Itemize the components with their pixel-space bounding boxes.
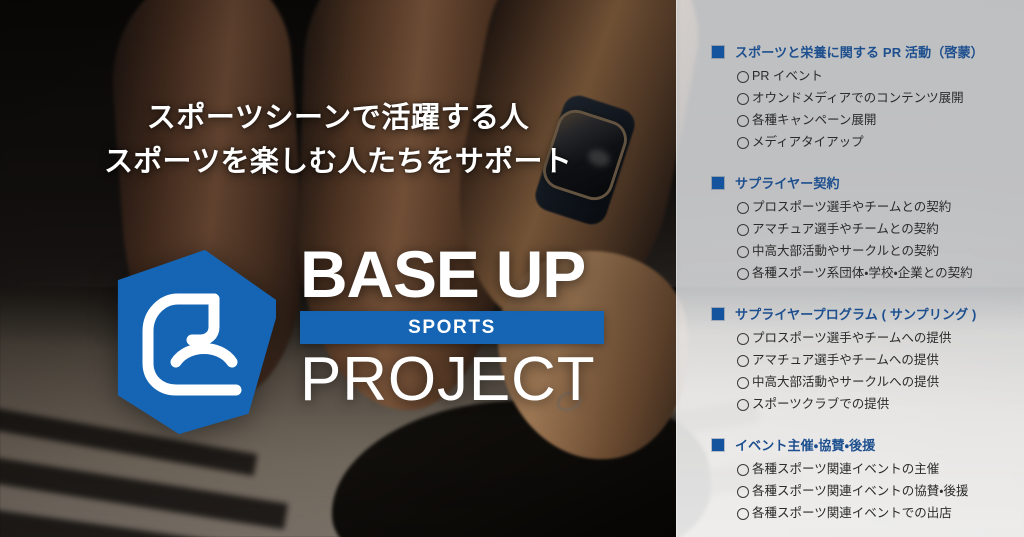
activity-group-header: スポーツと栄養に関する PR 活動（啓蒙）: [712, 42, 1012, 61]
activities-panel-content: スポーツと栄養に関する PR 活動（啓蒙）PR イベントオウンドメディアでのコン…: [676, 0, 1024, 537]
sports-badge: SPORTS: [300, 311, 604, 344]
activity-item-label: 中高大部活動やサークルへの提供: [752, 371, 939, 393]
square-bullet-icon: [712, 308, 724, 320]
sports-badge-label: SPORTS: [408, 317, 496, 339]
activity-item: 各種キャンペーン展開: [737, 109, 1012, 131]
activity-item: 中高大部活動やサークルとの契約: [737, 240, 1012, 262]
activity-item: アマチュア選手やチームとの契約: [737, 218, 1012, 240]
activity-item-label: 各種スポーツ系団体・学校・企業との契約: [752, 262, 973, 284]
activity-group: サプライヤープログラム ( サンプリング )プロスポーツ選手やチームへの提供アマ…: [712, 304, 1012, 415]
circle-bullet-icon: [737, 508, 749, 520]
circle-bullet-icon: [737, 355, 749, 367]
activity-item-list: 各種スポーツ関連イベントの主催各種スポーツ関連イベントの協賛・後援各種スポーツ関…: [712, 458, 1012, 524]
circle-bullet-icon: [737, 464, 749, 476]
square-bullet-icon: [712, 177, 724, 189]
activity-item-label: 各種スポーツ関連イベントの協賛・後援: [752, 480, 969, 502]
brand-name-project: PROJECT: [300, 348, 620, 411]
activity-item-list: PR イベントオウンドメディアでのコンテンツ展開各種キャンペーン展開メディアタイ…: [712, 65, 1012, 153]
circle-bullet-icon: [737, 246, 749, 258]
activity-item-list: プロスポーツ選手やチームへの提供アマチュア選手やチームへの提供中高大部活動やサー…: [712, 327, 1012, 415]
circle-bullet-icon: [737, 71, 749, 83]
activity-item-label: プロスポーツ選手やチームとの契約: [752, 196, 951, 218]
activity-item: プロスポーツ選手やチームとの契約: [737, 196, 1012, 218]
flexed-arm-pentagon-logo-icon: [108, 247, 276, 437]
activity-group-title: イベント主催・協賛・後援: [735, 435, 875, 454]
activity-item-label: アマチュア選手やチームへの提供: [752, 349, 939, 371]
activity-item: 各種スポーツ関連イベントの協賛・後援: [737, 480, 1012, 502]
circle-bullet-icon: [737, 93, 749, 105]
activity-item: スポーツクラブでの提供: [737, 393, 1012, 415]
wordmark: BASE UP SPORTS PROJECT: [300, 243, 620, 412]
activity-item-label: プロスポーツ選手やチームへの提供: [752, 327, 951, 349]
circle-bullet-icon: [737, 115, 749, 127]
activity-item-label: スポーツクラブでの提供: [752, 393, 889, 415]
circle-bullet-icon: [737, 268, 749, 280]
activity-group-header: サプライヤー契約: [712, 173, 1012, 192]
activity-item-label: アマチュア選手やチームとの契約: [752, 218, 939, 240]
circle-bullet-icon: [737, 137, 749, 149]
square-bullet-icon: [712, 46, 724, 58]
hero-banner: スポーツシーンで活躍する人 スポーツを楽しむ人たちをサポート BASE UP S…: [0, 0, 1024, 537]
activity-item: 各種スポーツ関連イベントでの出店: [737, 502, 1012, 524]
activity-item-label: 各種スポーツ関連イベントの主催: [752, 458, 939, 480]
activity-group-header: イベント主催・協賛・後援: [712, 435, 1012, 454]
circle-bullet-icon: [737, 224, 749, 236]
activity-item-label: 中高大部活動やサークルとの契約: [752, 240, 939, 262]
activity-item: 各種スポーツ系団体・学校・企業との契約: [737, 262, 1012, 284]
activity-item-label: PR イベント: [752, 65, 823, 87]
activity-group-title: サプライヤープログラム ( サンプリング ): [735, 304, 976, 323]
circle-bullet-icon: [737, 399, 749, 411]
activity-group-title: スポーツと栄養に関する PR 活動（啓蒙）: [735, 42, 984, 61]
activity-item: PR イベント: [737, 65, 1012, 87]
activity-item-label: オウンドメディアでのコンテンツ展開: [752, 87, 964, 109]
activity-item: アマチュア選手やチームへの提供: [737, 349, 1012, 371]
square-bullet-icon: [712, 439, 724, 451]
activity-group-title: サプライヤー契約: [735, 173, 840, 192]
activity-item: メディアタイアップ: [737, 131, 1012, 153]
activity-group: スポーツと栄養に関する PR 活動（啓蒙）PR イベントオウンドメディアでのコン…: [712, 42, 1012, 153]
activity-item: 各種スポーツ関連イベントの主催: [737, 458, 1012, 480]
activity-item-label: メディアタイアップ: [752, 131, 864, 153]
activity-item: オウンドメディアでのコンテンツ展開: [737, 87, 1012, 109]
brand-lockup: BASE UP SPORTS PROJECT: [0, 243, 676, 443]
activity-item-list: プロスポーツ選手やチームとの契約アマチュア選手やチームとの契約中高大部活動やサー…: [712, 196, 1012, 284]
activity-group: サプライヤー契約プロスポーツ選手やチームとの契約アマチュア選手やチームとの契約中…: [712, 173, 1012, 284]
circle-bullet-icon: [737, 486, 749, 498]
circle-bullet-icon: [737, 333, 749, 345]
brand-name-base-up: BASE UP: [300, 243, 620, 306]
activity-group-header: サプライヤープログラム ( サンプリング ): [712, 304, 1012, 323]
circle-bullet-icon: [737, 377, 749, 389]
activity-item-label: 各種キャンペーン展開: [752, 109, 876, 131]
activity-item: プロスポーツ選手やチームへの提供: [737, 327, 1012, 349]
activities-panel: スポーツと栄養に関する PR 活動（啓蒙）PR イベントオウンドメディアでのコン…: [676, 0, 1024, 537]
activity-group: イベント主催・協賛・後援各種スポーツ関連イベントの主催各種スポーツ関連イベントの…: [712, 435, 1012, 524]
circle-bullet-icon: [737, 202, 749, 214]
activity-item-label: 各種スポーツ関連イベントでの出店: [752, 502, 952, 524]
activity-item: 中高大部活動やサークルへの提供: [737, 371, 1012, 393]
